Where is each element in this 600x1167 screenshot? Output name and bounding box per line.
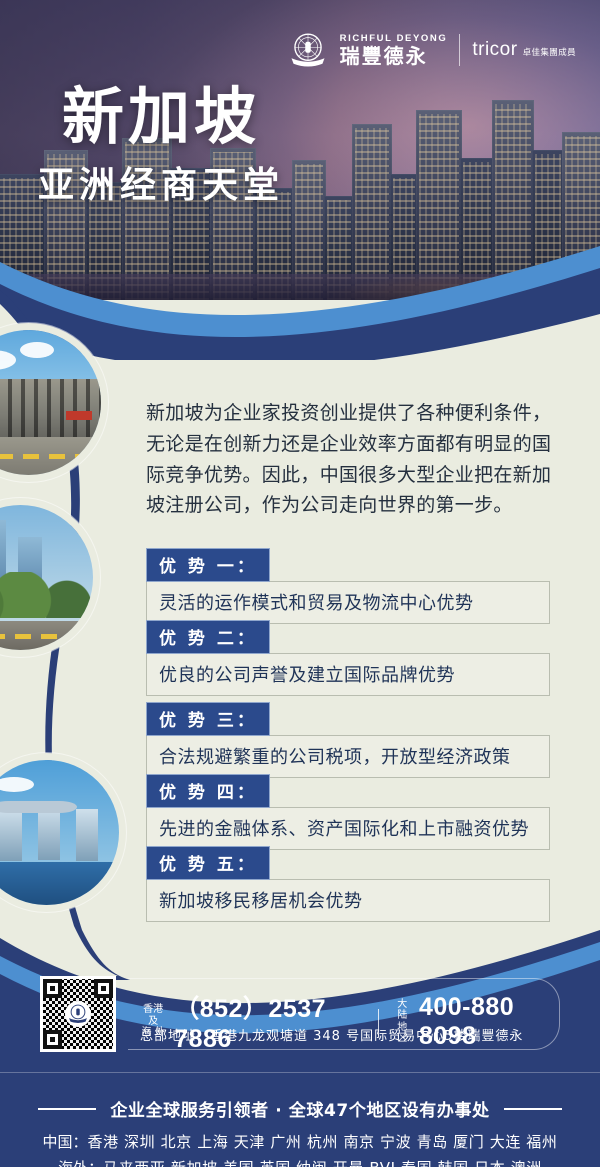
advantage-1-header: 优 势 一： [146, 548, 270, 582]
company-crest-icon [286, 28, 330, 72]
advantage-5-body: 新加坡移民移居机会优势 [146, 879, 550, 922]
phone-cn-label-line1: 大陆 [393, 999, 410, 1022]
marina-water [0, 274, 600, 300]
china-offices-row: 中国：香港 深圳 北京 上海 天津 广州 杭州 南京 宁波 青岛 厦门 大连 福… [0, 1130, 600, 1156]
advantage-3-header: 优 势 三： [146, 702, 270, 736]
overseas-label: 海外： [58, 1159, 103, 1167]
overseas-offices-row: 海外：马来西亚 新加坡 美国 英国 纳闽 开曼 BVI 泰国 韩国 日本 澳洲 [0, 1156, 600, 1167]
advantage-4-body: 先进的金融体系、资产国际化和上市融资优势 [146, 807, 550, 850]
china-cities: 香港 深圳 北京 上海 天津 广州 杭州 南京 宁波 青岛 厦门 大连 福州 [87, 1133, 557, 1151]
intro-paragraph: 新加坡为企业家投资创业提供了各种便利条件，无论是在创新力还是企业效率方面都有明显… [146, 398, 566, 521]
photo-city-waterfront [0, 505, 93, 650]
photo-shophouse-street [0, 330, 101, 475]
logo-divider [459, 34, 460, 66]
brand-name-en: RICHFUL DEYONG [340, 34, 448, 44]
advantage-item-1: 优 势 一： 灵活的运作模式和贸易及物流中心优势 [146, 548, 550, 624]
qr-code-icon[interactable] [40, 976, 116, 1052]
contact-box: 香港及 海 外 （852）2537 7886 大陆 地区 400-880 809… [128, 978, 560, 1050]
china-label: 中国： [42, 1133, 87, 1151]
brand-name-cn: 瑞豐德永 [340, 46, 448, 66]
advantage-item-4: 优 势 四： 先进的金融体系、资产国际化和上市融资优势 [146, 774, 550, 850]
crest-in-qr-icon [67, 1003, 89, 1025]
poster-root: RICHFUL DEYONG 瑞豐德永 tricor 卓佳集團成員 新加坡 亚洲… [0, 0, 600, 1167]
partner-subtitle: 卓佳集團成員 [523, 46, 576, 61]
phone-hk-number[interactable]: （852）2537 7886 [174, 989, 364, 1054]
page-title: 新加坡 [62, 86, 260, 148]
advantage-5-header: 优 势 五： [146, 846, 270, 880]
advantage-3-body: 合法规避繁重的公司税项，开放型经济政策 [146, 735, 550, 778]
phone-hk-label-line1: 香港及 [140, 1004, 166, 1027]
photo-marina-bay-sands [0, 760, 119, 905]
brand-logo: RICHFUL DEYONG 瑞豐德永 tricor 卓佳集團成員 [286, 28, 576, 72]
footer-tagline: 企业全球服务引领者 · 全球47个地区设有办事处 [110, 1096, 489, 1121]
overseas-cities: 马来西亚 新加坡 美国 英国 纳闽 开曼 BVI 泰国 韩国 日本 澳洲 [103, 1159, 542, 1167]
footer-divider [0, 1072, 600, 1073]
tagline-row: 企业全球服务引领者 · 全球47个地区设有办事处 [0, 1096, 600, 1121]
advantage-item-5: 优 势 五： 新加坡移民移居机会优势 [146, 846, 550, 922]
tagline-dash-left [38, 1108, 96, 1110]
partner-name: tricor [472, 39, 517, 61]
hero-banner: RICHFUL DEYONG 瑞豐德永 tricor 卓佳集團成員 新加坡 亚洲… [0, 0, 600, 300]
footer-content: 香港及 海 外 （852）2537 7886 大陆 地区 400-880 809… [0, 960, 600, 1167]
office-regions: 中国：香港 深圳 北京 上海 天津 广州 杭州 南京 宁波 青岛 厦门 大连 福… [0, 1130, 600, 1167]
tagline-dash-right [504, 1108, 562, 1110]
advantage-item-2: 优 势 二： 优良的公司声誉及建立国际品牌优势 [146, 620, 550, 696]
advantage-4-header: 优 势 四： [146, 774, 270, 808]
page-subtitle: 亚洲经商天堂 [38, 168, 284, 204]
advantage-2-body: 优良的公司声誉及建立国际品牌优势 [146, 653, 550, 696]
advantage-2-header: 优 势 二： [146, 620, 270, 654]
advantage-item-3: 优 势 三： 合法规避繁重的公司税项，开放型经济政策 [146, 702, 550, 778]
head-office-address: 总部地址：香港九龙观塘道 348 号国际贸易中心5楼瑞豐德永 [140, 1025, 523, 1044]
phone-row: 香港及 海 外 （852）2537 7886 大陆 地区 400-880 809… [140, 989, 559, 1054]
advantage-1-body: 灵活的运作模式和贸易及物流中心优势 [146, 581, 550, 624]
